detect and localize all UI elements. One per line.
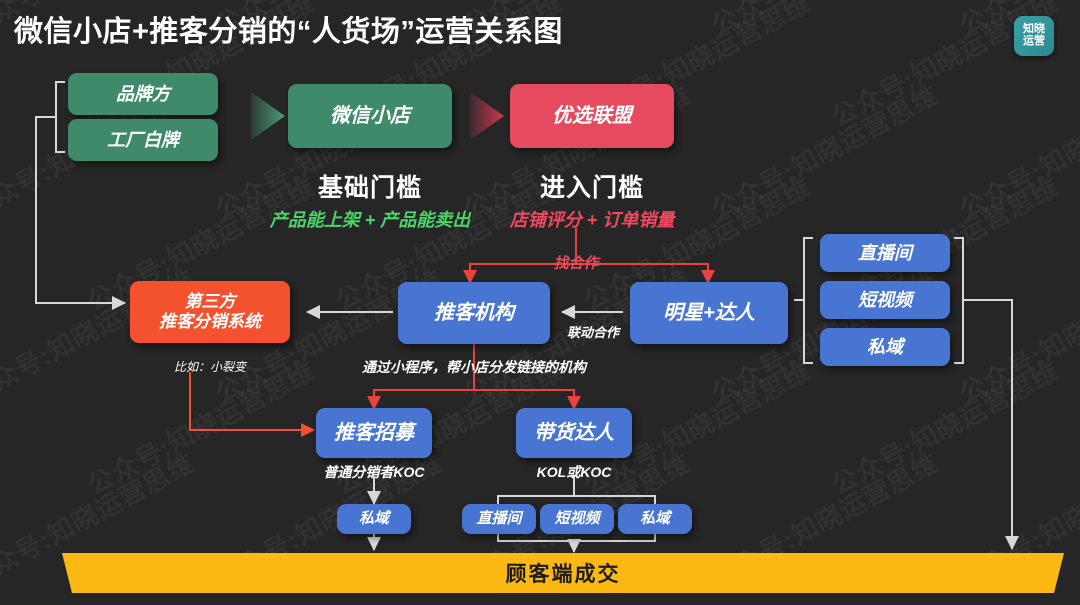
logo-line-2: 运营 <box>1023 36 1045 48</box>
caption-joint-cooperation: 联动合作 <box>552 322 634 341</box>
watermark-text: 公众号:知晓运营思维 <box>1072 351 1080 502</box>
node-customer-deal[interactable]: 顾客端成交 <box>62 553 1064 593</box>
node-brand[interactable]: 品牌方 <box>68 73 218 115</box>
watermark-text: 公众号:知晓运营思维 <box>952 75 1080 226</box>
diagram-canvas: 公众号:知晓运营思维公众号:知晓运营思维公众号:知晓运营思维公众号:知晓运营思维… <box>0 0 1080 605</box>
watermark-text: 公众号:知晓运营思维 <box>1072 0 1080 135</box>
node-live-room-right[interactable]: 直播间 <box>820 234 950 272</box>
node-selling-influencer[interactable]: 带货达人 <box>516 408 632 458</box>
node-short-video-right[interactable]: 短视频 <box>820 281 950 319</box>
node-private-domain-left[interactable]: 私域 <box>337 504 411 534</box>
caption-basic-threshold: 基础门槛 <box>288 168 452 204</box>
watermark-text: 公众号:知晓运营思维 <box>1072 167 1080 318</box>
caption-kol-or-koc: KOL或KOC <box>516 462 632 482</box>
node-wechat-store[interactable]: 微信小店 <box>288 84 452 148</box>
node-promoter-recruit[interactable]: 推客招募 <box>316 408 432 458</box>
node-third-party-line-2: 推客分销系统 <box>159 312 261 332</box>
caption-find-cooperation: 找合作 <box>520 252 632 273</box>
caption-entry-threshold: 进入门槛 <box>510 168 674 204</box>
node-star-influencer[interactable]: 明星+达人 <box>630 282 788 344</box>
watermark-text: 公众号:知晓运营思维 <box>704 75 944 226</box>
watermark-text: 公众号:知晓运营思维 <box>824 351 1064 502</box>
node-short-video-bottom[interactable]: 短视频 <box>540 504 614 534</box>
node-preferred-alliance[interactable]: 优选联盟 <box>510 84 674 148</box>
node-live-room-bottom[interactable]: 直播间 <box>462 504 536 534</box>
page-title: 微信小店+推客分销的“人货场”运营关系图 <box>14 8 563 50</box>
caption-entry-threshold-detail: 店铺评分 + 订单销量 <box>472 206 712 232</box>
caption-example-xiaoliebian: 比如：小裂变 <box>140 358 280 375</box>
watermark-text: 公众号:知晓运营思维 <box>952 259 1080 410</box>
chevron-arrow-2 <box>470 92 504 140</box>
node-third-party-line-1: 第三方 <box>185 292 236 312</box>
node-private-domain-bottom[interactable]: 私域 <box>618 504 692 534</box>
caption-ordinary-koc: 普通分销者KOC <box>304 462 444 482</box>
caption-mini-program-note: 通过小程序，帮小店分发链接的机构 <box>338 357 610 377</box>
brand-logo: 知晓 运营 <box>1014 16 1054 56</box>
watermark-text: 公众号:知晓运营思维 <box>704 0 944 43</box>
node-private-domain-right[interactable]: 私域 <box>820 328 950 366</box>
chevron-arrow-1 <box>251 92 285 140</box>
node-third-party-system[interactable]: 第三方 推客分销系统 <box>130 281 290 343</box>
node-promoter-agency[interactable]: 推客机构 <box>398 282 550 344</box>
node-factory[interactable]: 工厂白牌 <box>68 119 218 161</box>
